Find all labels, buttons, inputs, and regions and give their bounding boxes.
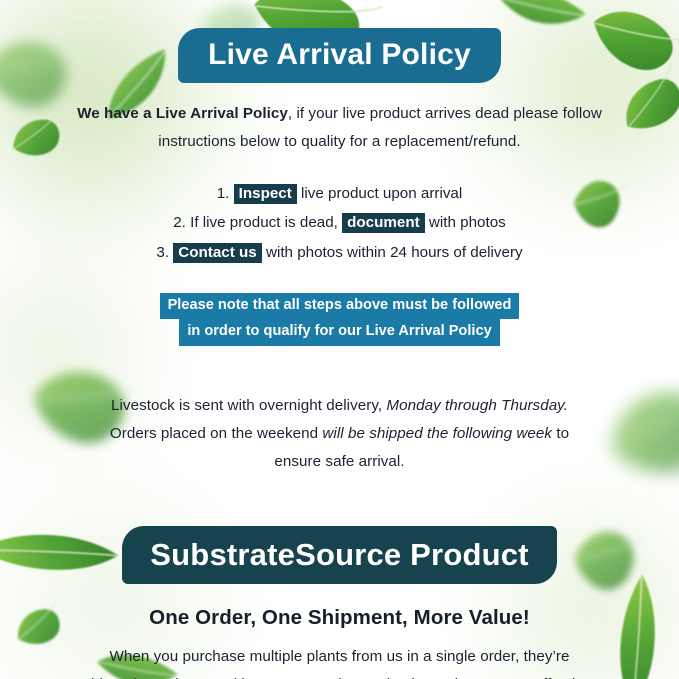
- substratesource-product-banner-row: SubstrateSource Product: [0, 476, 679, 584]
- infographic-content: Live Arrival Policy We have a Live Arriv…: [0, 0, 679, 679]
- step-text-after: with photos within 24 hours of delivery: [262, 244, 523, 261]
- step-text-before: If live product is dead,: [190, 214, 342, 231]
- policy-intro-block: We have a Live Arrival Policy, if your l…: [0, 83, 679, 156]
- step-text-after: with photos: [425, 214, 506, 231]
- livestock-italic-1: Monday through Thursday.: [386, 397, 568, 414]
- livestock-shipping-block: Livestock is sent with overnight deliver…: [0, 346, 679, 476]
- step-highlight-document: document: [342, 213, 425, 233]
- livestock-shipping-paragraph: Livestock is sent with overnight deliver…: [105, 392, 574, 476]
- product-subheading: One Order, One Shipment, More Value!: [0, 606, 679, 630]
- step-highlight-contact-us: Contact us: [173, 243, 261, 263]
- product-closing-paragraph: When you purchase multiple plants from u…: [82, 643, 597, 679]
- product-closing-block: When you purchase multiple plants from u…: [0, 630, 679, 679]
- policy-intro-bold: We have a Live Arrival Policy: [77, 105, 288, 122]
- list-item: 2. If live product is dead, document wit…: [0, 208, 679, 237]
- livestock-italic-2: will be shipped the following week: [322, 425, 552, 442]
- step-number: 1.: [217, 185, 230, 202]
- livestock-text-1: Livestock is sent with overnight deliver…: [111, 397, 386, 414]
- policy-note-line-2: in order to qualify for our Live Arrival…: [179, 319, 499, 346]
- policy-note-line-2-wrap: in order to qualify for our Live Arrival…: [0, 319, 679, 346]
- policy-note-block: Please note that all steps above must be…: [0, 267, 679, 346]
- live-arrival-policy-banner-row: Live Arrival Policy: [0, 0, 679, 83]
- policy-steps-block: 1. Inspect live product upon arrival 2. …: [0, 156, 679, 267]
- list-item: 1. Inspect live product upon arrival: [0, 179, 679, 208]
- step-number: 2.: [173, 214, 186, 231]
- policy-intro-paragraph: We have a Live Arrival Policy, if your l…: [72, 100, 607, 156]
- policy-note-line-1-wrap: Please note that all steps above must be…: [0, 293, 679, 320]
- product-subheading-block: One Order, One Shipment, More Value!: [0, 584, 679, 630]
- substratesource-product-banner: SubstrateSource Product: [122, 526, 556, 584]
- live-arrival-policy-banner: Live Arrival Policy: [178, 28, 501, 83]
- step-highlight-inspect: Inspect: [234, 184, 297, 204]
- livestock-text-2: Orders placed on the weekend: [110, 425, 323, 442]
- step-text-after: live product upon arrival: [297, 185, 462, 202]
- list-item: 3. Contact us with photos within 24 hour…: [0, 238, 679, 267]
- policy-steps-list: 1. Inspect live product upon arrival 2. …: [0, 179, 679, 267]
- step-number: 3.: [156, 244, 169, 261]
- policy-note-line-1: Please note that all steps above must be…: [160, 293, 520, 320]
